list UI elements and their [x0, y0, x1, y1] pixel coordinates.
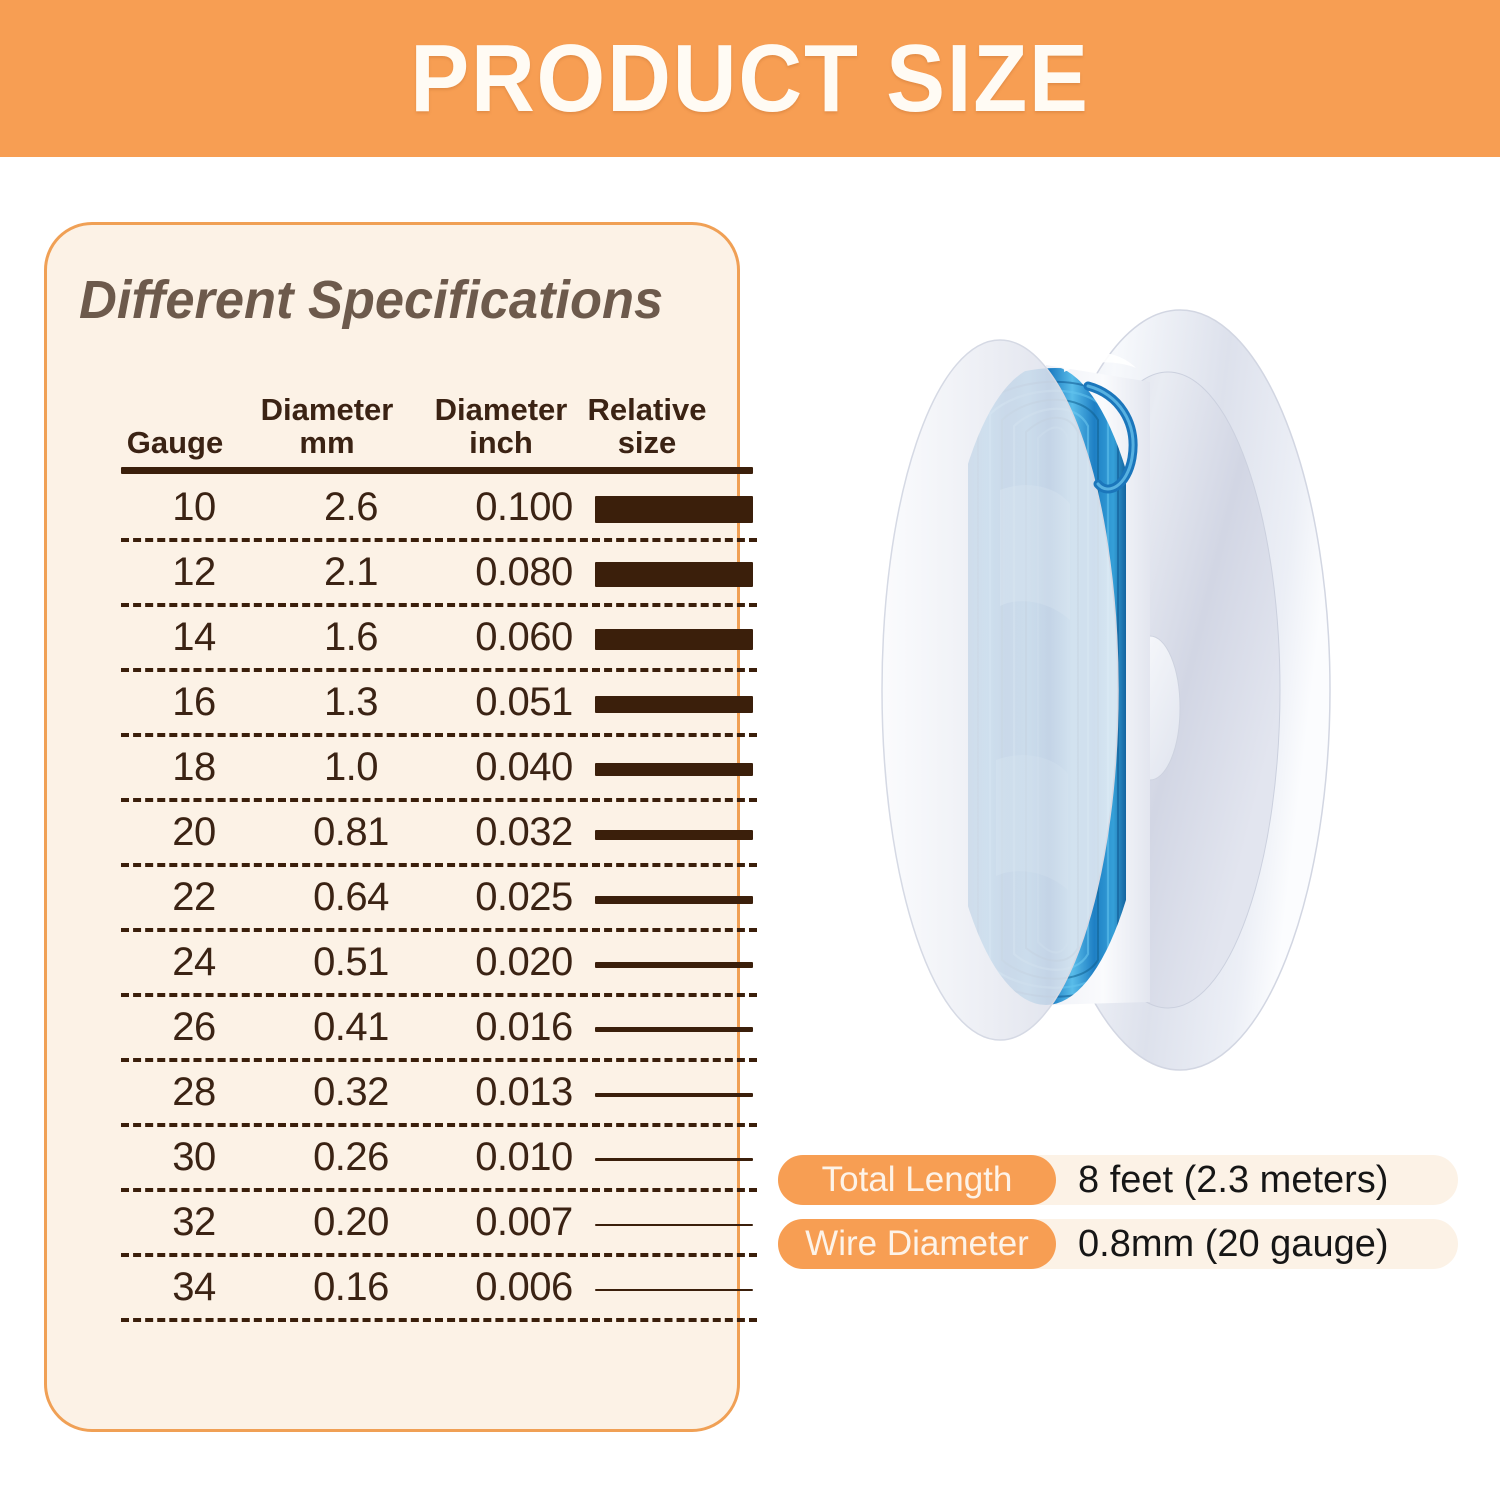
cell-relative-size — [595, 672, 753, 737]
relative-size-bar — [595, 696, 753, 713]
column-header-diameter-mm: Diameter mm — [239, 393, 415, 459]
cell-gauge: 24 — [125, 938, 263, 986]
cell-gauge: 26 — [125, 1003, 263, 1051]
cell-gauge: 20 — [125, 808, 263, 856]
specifications-card: Different Specifications Gauge Diameter … — [44, 222, 740, 1432]
cell-diameter-inch: 0.051 — [429, 678, 619, 726]
cell-diameter-mm: 0.81 — [263, 808, 439, 856]
table-header-divider — [121, 467, 753, 474]
relative-size-bar — [595, 896, 753, 904]
cell-gauge: 12 — [125, 548, 263, 596]
table-row: 220.640.025 — [77, 867, 753, 932]
relative-size-bar — [595, 496, 753, 523]
table-row: 122.10.080 — [77, 542, 753, 607]
relative-size-bar — [595, 562, 753, 587]
table-row: 200.810.032 — [77, 802, 753, 867]
column-header-relative-size: Relative size — [577, 393, 717, 459]
cell-relative-size — [595, 802, 753, 867]
cell-diameter-mm: 0.64 — [263, 873, 439, 921]
cell-diameter-inch: 0.080 — [429, 548, 619, 596]
cell-diameter-inch: 0.016 — [429, 1003, 619, 1051]
info-value: 0.8mm (20 gauge) — [1078, 1219, 1389, 1269]
cell-diameter-inch: 0.025 — [429, 873, 619, 921]
table-header-row: Gauge Diameter mm Diameter inch Relative… — [77, 373, 709, 465]
cell-gauge: 14 — [125, 613, 263, 661]
table-row: 240.510.020 — [77, 932, 753, 997]
cell-diameter-inch: 0.010 — [429, 1133, 619, 1181]
gauge-table: Gauge Diameter mm Diameter inch Relative… — [77, 373, 709, 465]
relative-size-bar — [595, 1158, 753, 1161]
cell-diameter-inch: 0.060 — [429, 613, 619, 661]
cell-diameter-mm: 0.41 — [263, 1003, 439, 1051]
cell-relative-size — [595, 1062, 753, 1127]
cell-gauge: 16 — [125, 678, 263, 726]
cell-relative-size — [595, 607, 753, 672]
cell-diameter-inch: 0.006 — [429, 1263, 619, 1311]
cell-diameter-inch: 0.040 — [429, 743, 619, 791]
cell-gauge: 32 — [125, 1198, 263, 1246]
info-label-pill: Wire Diameter — [778, 1219, 1056, 1269]
column-header-gauge: Gauge — [105, 426, 245, 459]
relative-size-bar — [595, 1093, 753, 1097]
cell-diameter-mm: 2.1 — [263, 548, 439, 596]
cell-diameter-mm: 2.6 — [263, 483, 439, 531]
cell-diameter-mm: 0.32 — [263, 1068, 439, 1116]
cell-diameter-mm: 1.3 — [263, 678, 439, 726]
relative-size-bar — [595, 1289, 753, 1291]
cell-relative-size — [595, 1257, 753, 1322]
page-title: PRODUCT SIZE — [60, 0, 1440, 157]
table-row: 102.60.100 — [77, 477, 753, 542]
cell-diameter-inch: 0.013 — [429, 1068, 619, 1116]
cell-gauge: 10 — [125, 483, 263, 531]
relative-size-bar — [595, 830, 753, 840]
cell-diameter-mm: 0.16 — [263, 1263, 439, 1311]
table-row: 320.200.007 — [77, 1192, 753, 1257]
cell-diameter-mm: 1.6 — [263, 613, 439, 661]
cell-diameter-inch: 0.100 — [429, 483, 619, 531]
table-row: 260.410.016 — [77, 997, 753, 1062]
cell-gauge: 34 — [125, 1263, 263, 1311]
wire-spool-illustration — [850, 290, 1370, 1080]
table-row: 340.160.006 — [77, 1257, 753, 1322]
cell-relative-size — [595, 867, 753, 932]
info-row: Total Length8 feet (2.3 meters) — [778, 1155, 1458, 1205]
relative-size-bar — [595, 1224, 753, 1226]
info-row: Wire Diameter0.8mm (20 gauge) — [778, 1219, 1458, 1269]
cell-gauge: 18 — [125, 743, 263, 791]
table-row: 280.320.013 — [77, 1062, 753, 1127]
cell-diameter-inch: 0.020 — [429, 938, 619, 986]
cell-relative-size — [595, 542, 753, 607]
cell-diameter-mm: 0.26 — [263, 1133, 439, 1181]
cell-diameter-mm: 0.51 — [263, 938, 439, 986]
table-row: 161.30.051 — [77, 672, 753, 737]
relative-size-bar — [595, 1027, 753, 1032]
cell-diameter-mm: 1.0 — [263, 743, 439, 791]
cell-relative-size — [595, 997, 753, 1062]
cell-relative-size — [595, 737, 753, 802]
cell-gauge: 28 — [125, 1068, 263, 1116]
table-row: 141.60.060 — [77, 607, 753, 672]
table-body: 102.60.100122.10.080141.60.060161.30.051… — [77, 477, 753, 1322]
info-label-pill: Total Length — [778, 1155, 1056, 1205]
cell-relative-size — [595, 932, 753, 997]
row-divider — [121, 1318, 757, 1322]
relative-size-bar — [595, 962, 753, 968]
relative-size-bar — [595, 763, 753, 776]
cell-relative-size — [595, 477, 753, 542]
specifications-title: Different Specifications — [79, 269, 663, 331]
spool-left-flange — [882, 340, 1118, 1040]
cell-gauge: 22 — [125, 873, 263, 921]
table-row: 300.260.010 — [77, 1127, 753, 1192]
cell-diameter-inch: 0.032 — [429, 808, 619, 856]
cell-relative-size — [595, 1127, 753, 1192]
cell-gauge: 30 — [125, 1133, 263, 1181]
product-info-list: Total Length8 feet (2.3 meters)Wire Diam… — [778, 1155, 1458, 1283]
relative-size-bar — [595, 629, 753, 650]
column-header-diameter-inch: Diameter inch — [413, 393, 589, 459]
cell-diameter-mm: 0.20 — [263, 1198, 439, 1246]
info-value: 8 feet (2.3 meters) — [1078, 1155, 1388, 1205]
table-row: 181.00.040 — [77, 737, 753, 802]
cell-relative-size — [595, 1192, 753, 1257]
cell-diameter-inch: 0.007 — [429, 1198, 619, 1246]
wire-spool-image — [850, 290, 1370, 1080]
